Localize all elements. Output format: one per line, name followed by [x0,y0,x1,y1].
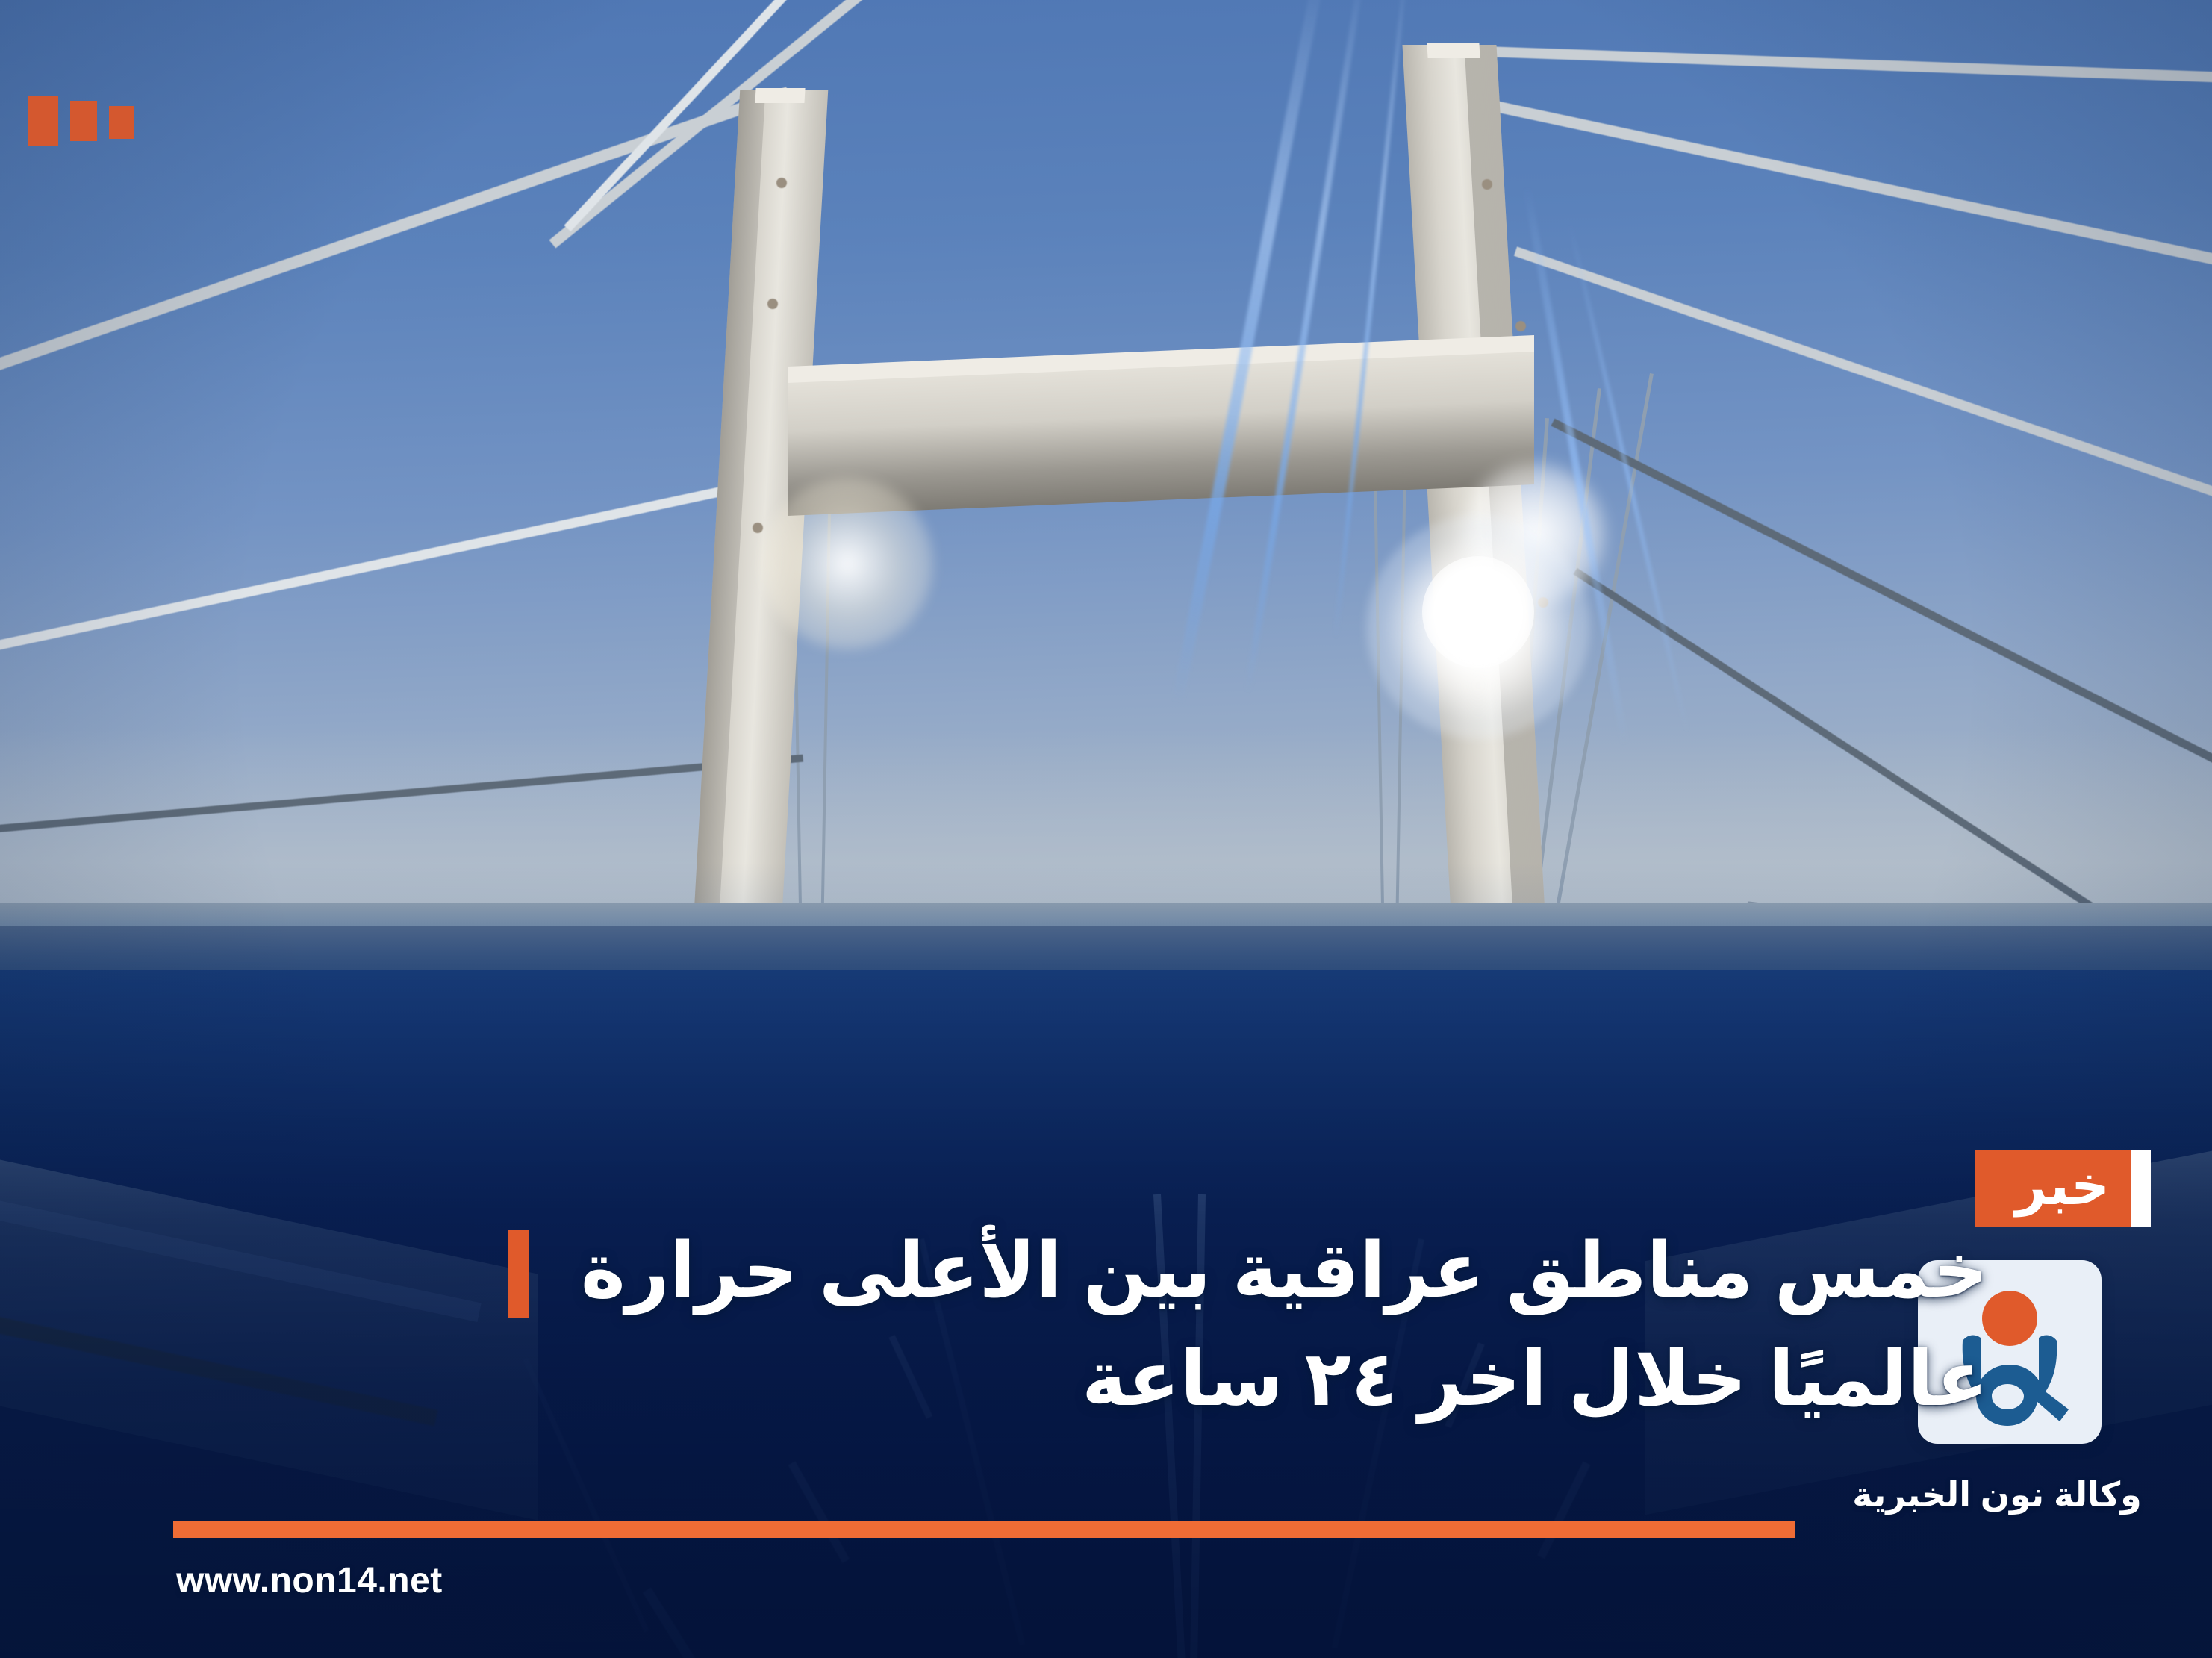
orange-divider [173,1521,1795,1538]
headline: خمس مناطق عراقية بين الأعلى حرارة عالميً… [368,1217,1988,1433]
headline-line-1: خمس مناطق عراقية بين الأعلى حرارة [368,1217,1988,1325]
bar-3 [109,106,134,139]
bar-1 [28,96,58,146]
website-url: www.non14.net [176,1560,443,1601]
news-card: خبر وكالة نون الخبرية خمس مناطق عراقية ب… [0,0,2212,1658]
news-badge-white-stripe [2131,1150,2151,1227]
bar-2 [70,101,97,141]
agency-name: وكالة نون الخبرية [1840,1474,2154,1515]
three-bars-logo-icon [28,96,134,146]
news-badge-label: خبر [2016,1159,2110,1218]
headline-line-2: عالميًا خلال اخر ٢٤ ساعة [368,1325,1988,1433]
news-badge: خبر [1975,1150,2151,1227]
